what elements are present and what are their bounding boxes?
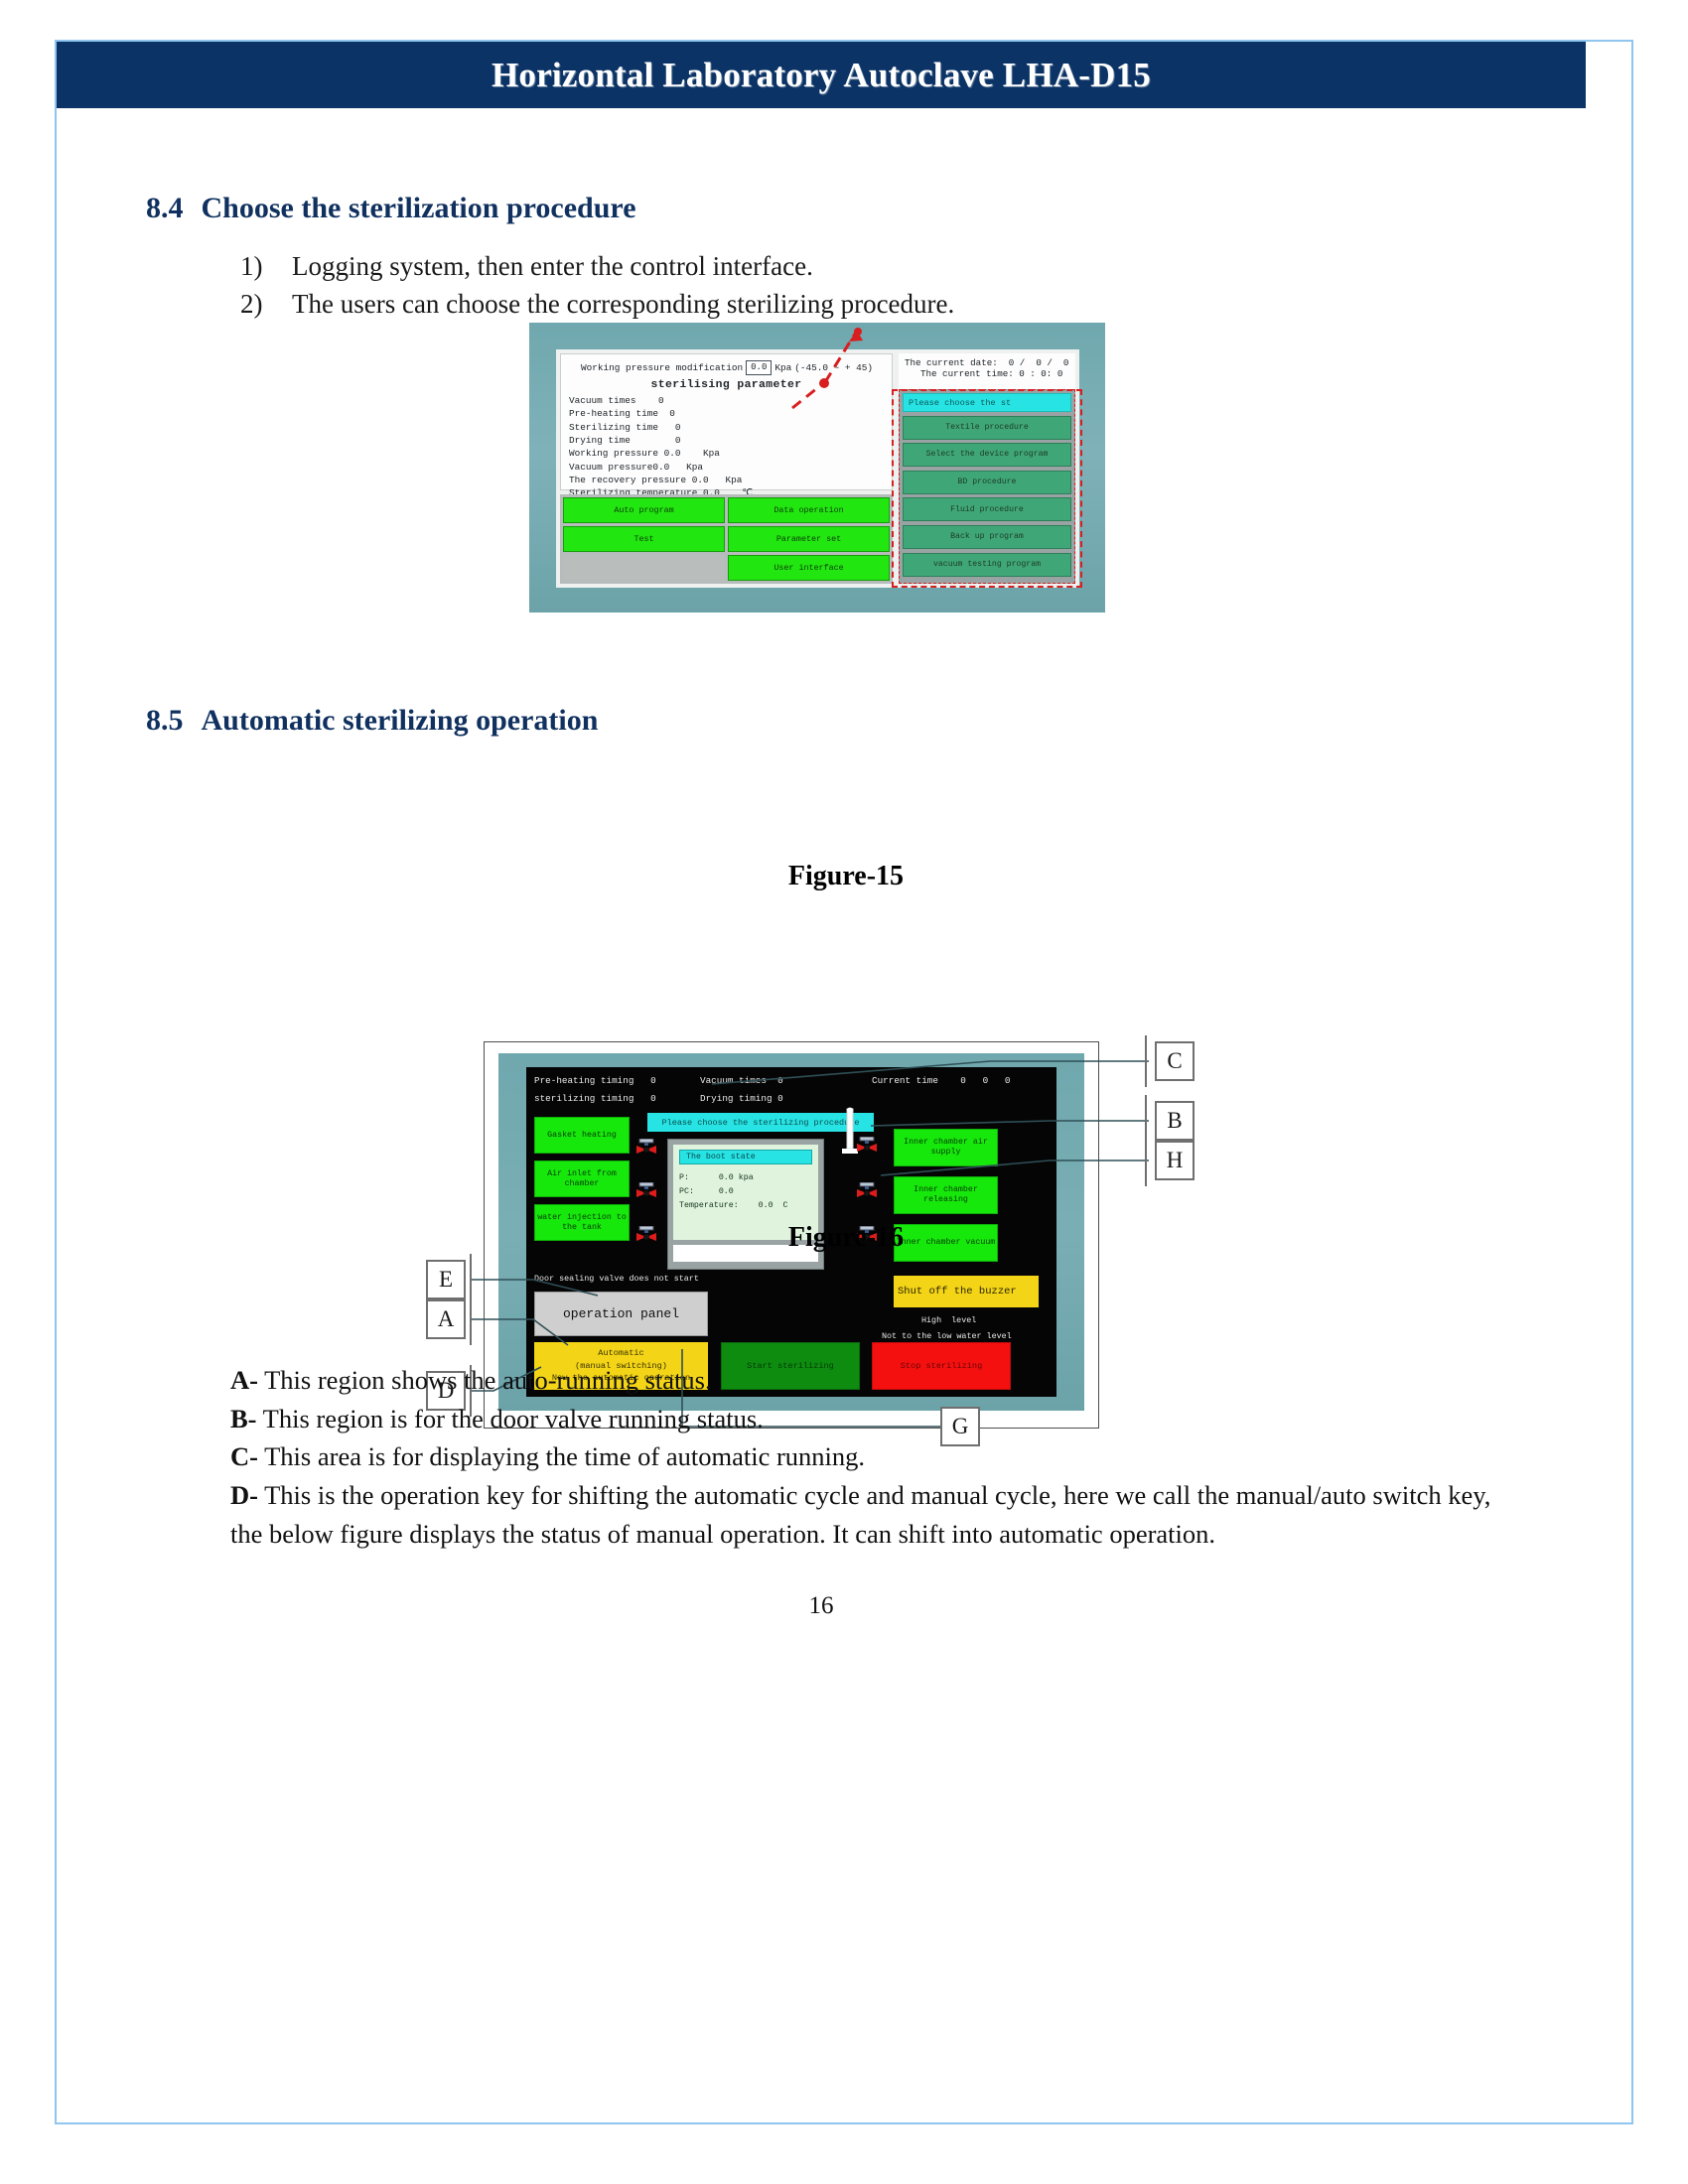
legend-key-c: C- bbox=[230, 1441, 258, 1471]
callout-tick bbox=[1145, 1035, 1147, 1087]
callout-c: C bbox=[1155, 1041, 1195, 1081]
legend-entry-d: D- This is the operation key for shiftin… bbox=[230, 1476, 1491, 1553]
legend-text-d: This is the operation key for shifting t… bbox=[230, 1480, 1490, 1549]
figure-15-image: Working pressure modification 0.0 Kpa (-… bbox=[529, 323, 1105, 613]
param-row: The recovery pressure 0.0 Kpa bbox=[569, 474, 884, 486]
procedure-menu-panel: Please choose the st Textile procedure S… bbox=[899, 389, 1075, 584]
callout-tick bbox=[1145, 1135, 1147, 1186]
param-row: Vacuum pressure0.0 Kpa bbox=[569, 461, 884, 474]
legend-entry-b: B- This region is for the door valve run… bbox=[230, 1400, 1491, 1438]
param-row: Drying time 0 bbox=[569, 434, 884, 447]
figure-16-legend: A- This region shows the auto-running st… bbox=[230, 1361, 1491, 1553]
menu-button-textile[interactable]: Textile procedure bbox=[903, 416, 1071, 440]
param-row: Working pressure 0.0 Kpa bbox=[569, 447, 884, 460]
section-heading-8-5: 8.5Automatic sterilizing operation bbox=[146, 704, 598, 738]
section-number-8-4: 8.4 bbox=[146, 192, 184, 224]
list-item: 2) The users can choose the correspondin… bbox=[240, 285, 954, 323]
page-header-title: Horizontal Laboratory Autoclave LHA-D15 bbox=[492, 56, 1151, 95]
list-text: Logging system, then enter the control i… bbox=[292, 247, 813, 285]
list-item: 1) Logging system, then enter the contro… bbox=[240, 247, 954, 285]
callout-e: E bbox=[426, 1260, 466, 1299]
callout-h: H bbox=[1155, 1141, 1195, 1180]
legend-entry-a: A- This region shows the auto-running st… bbox=[230, 1361, 1491, 1400]
menu-button-select-device[interactable]: Select the device program bbox=[903, 443, 1071, 467]
button-data-operation[interactable]: Data operation bbox=[728, 497, 890, 523]
list-text: The users can choose the corresponding s… bbox=[292, 285, 954, 323]
param-row: Vacuum times 0 bbox=[569, 394, 884, 407]
legend-text-a: This region shows the auto-running statu… bbox=[258, 1365, 712, 1395]
sterilising-parameter-panel: Working pressure modification 0.0 Kpa (-… bbox=[560, 353, 893, 490]
list-marker: 2) bbox=[240, 285, 292, 323]
working-pressure-input[interactable]: 0.0 bbox=[746, 360, 772, 375]
section-title-8-5: Automatic sterilizing operation bbox=[202, 704, 599, 737]
legend-entry-c: C- This area is for displaying the time … bbox=[230, 1437, 1491, 1476]
current-time-text: The current time: 0 : 0: 0 bbox=[899, 368, 1075, 379]
param-row: Pre-heating time 0 bbox=[569, 407, 884, 420]
param-row: Sterilizing time 0 bbox=[569, 421, 884, 434]
menu-button-backup[interactable]: Back up program bbox=[903, 525, 1071, 549]
procedure-menu-title: Please choose the st bbox=[903, 393, 1071, 412]
datetime-display: The current date: 0 / 0 / 0 The current … bbox=[899, 353, 1075, 389]
working-pressure-row: Working pressure modification 0.0 Kpa (-… bbox=[569, 360, 884, 375]
callout-b: B bbox=[1155, 1101, 1195, 1141]
working-pressure-label: Working pressure modification bbox=[581, 361, 743, 374]
menu-button-bd[interactable]: BD procedure bbox=[903, 471, 1071, 494]
button-parameter-set[interactable]: Parameter set bbox=[728, 526, 890, 552]
button-test[interactable]: Test bbox=[563, 526, 725, 552]
parameter-panel-heading: sterilising parameter bbox=[569, 377, 884, 393]
hmi-screen-15: Working pressure modification 0.0 Kpa (-… bbox=[556, 349, 1079, 588]
figure-15-caption: Figure-15 bbox=[57, 861, 1635, 892]
menu-button-fluid[interactable]: Fluid procedure bbox=[903, 497, 1071, 521]
section-title-8-4: Choose the sterilization procedure bbox=[202, 192, 636, 224]
button-placeholder bbox=[563, 555, 725, 581]
working-pressure-range: (-45.0 ~ + 45) bbox=[794, 361, 873, 374]
page-number: 16 bbox=[57, 1592, 1586, 1620]
legend-text-c: This area is for displaying the time of … bbox=[258, 1441, 865, 1471]
button-user-interface[interactable]: User interface bbox=[728, 555, 890, 581]
callout-a: A bbox=[426, 1299, 466, 1339]
figure-16-caption: Figure-16 bbox=[57, 1222, 1635, 1254]
list-marker: 1) bbox=[240, 247, 292, 285]
legend-key-a: A- bbox=[230, 1365, 258, 1395]
button-auto-program[interactable]: Auto program bbox=[563, 497, 725, 523]
section-number-8-5: 8.5 bbox=[146, 704, 184, 737]
page-header-bar: Horizontal Laboratory Autoclave LHA-D15 bbox=[57, 42, 1586, 108]
working-pressure-unit: Kpa bbox=[774, 361, 791, 374]
main-action-button-grid: Auto program Data operation Test Paramet… bbox=[560, 494, 893, 584]
section-heading-8-4: 8.4Choose the sterilization procedure bbox=[146, 192, 636, 225]
current-date-text: The current date: 0 / 0 / 0 bbox=[899, 357, 1075, 368]
callout-tick bbox=[470, 1294, 472, 1345]
legend-key-b: B- bbox=[230, 1404, 257, 1433]
procedure-step-list: 1) Logging system, then enter the contro… bbox=[240, 247, 954, 324]
menu-button-vacuum-test[interactable]: vacuum testing program bbox=[903, 553, 1071, 577]
document-page: Horizontal Laboratory Autoclave LHA-D15 … bbox=[55, 40, 1633, 2124]
legend-key-d: D- bbox=[230, 1480, 258, 1510]
legend-text-b: This region is for the door valve runnin… bbox=[257, 1404, 764, 1433]
